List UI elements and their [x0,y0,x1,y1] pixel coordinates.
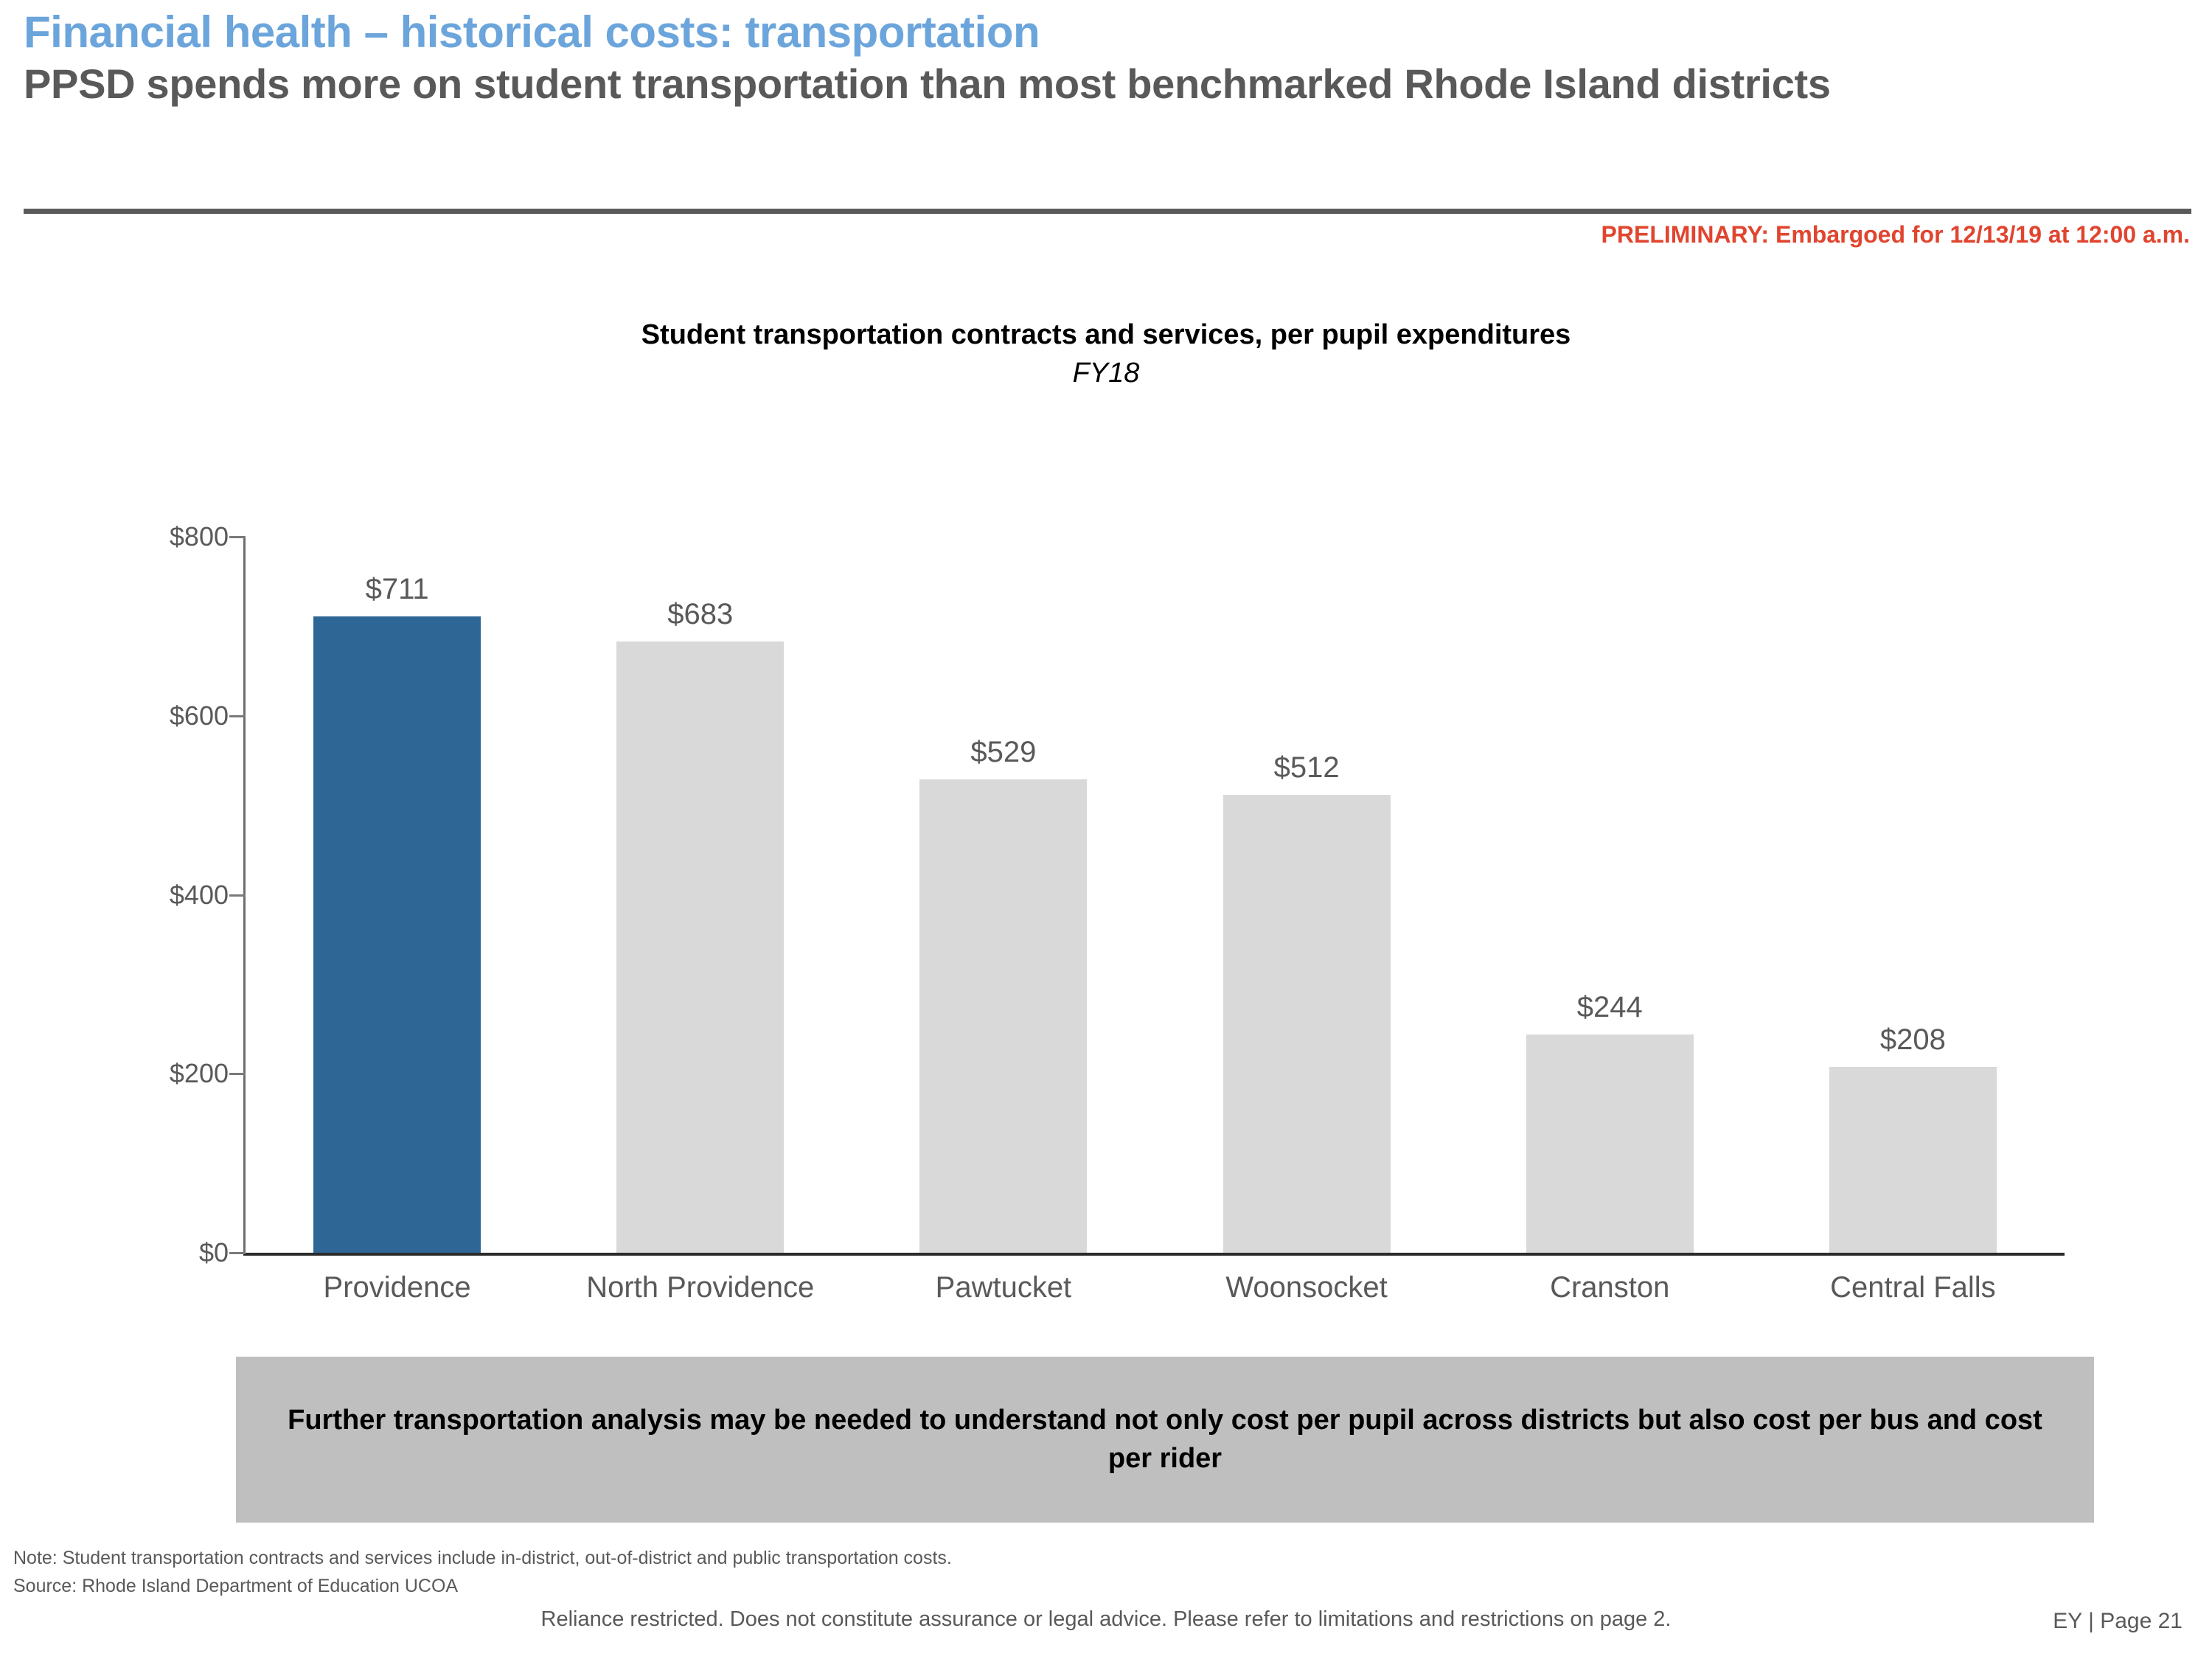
y-tick-label: $0 [111,1237,229,1268]
x-category-label: Woonsocket [1155,1271,1458,1304]
x-axis-line [243,1253,2065,1256]
x-category-label: Cranston [1458,1271,1761,1304]
bar-value-label: $529 [970,736,1036,769]
bar-column[interactable]: $683 [616,537,784,1253]
x-category-label: Providence [246,1271,549,1304]
bar-column[interactable]: $244 [1526,537,1694,1253]
bar[interactable] [313,616,481,1253]
page-marker: EY | Page 21 [2053,1609,2183,1634]
status-badge-embargo: PRELIMINARY: Embargoed for 12/13/19 at 1… [1601,221,2190,248]
footnotes: Note: Student transportation contracts a… [13,1545,952,1600]
y-tick-label: $400 [111,880,229,911]
callout-text: Further transportation analysis may be n… [280,1402,2050,1478]
bar-column[interactable]: $529 [919,537,1087,1253]
bar[interactable] [919,779,1087,1253]
bar-value-label: $512 [1274,751,1340,785]
bar-column[interactable]: $208 [1829,537,1997,1253]
bar-value-label: $711 [366,573,429,606]
page-title: PPSD spends more on student transportati… [24,61,2110,108]
y-tick-mark [229,1252,246,1254]
callout-box: Further transportation analysis may be n… [236,1357,2094,1523]
bar[interactable] [1829,1067,1997,1253]
header-divider [24,209,2191,214]
bar-value-label: $683 [667,598,733,631]
bar[interactable] [1526,1034,1694,1253]
y-tick-mark [229,715,246,717]
x-category-label: Pawtucket [852,1271,1155,1304]
y-tick-mark [229,536,246,538]
footnote-note: Note: Student transportation contracts a… [13,1545,952,1573]
bar[interactable] [616,641,784,1253]
bar-value-label: $208 [1880,1023,1946,1057]
x-category-label: Central Falls [1761,1271,2065,1304]
slide-header: Financial health – historical costs: tra… [24,9,2162,108]
y-tick-label: $800 [111,521,229,552]
slide-eyebrow: Financial health – historical costs: tra… [24,9,2162,57]
y-tick-label: $200 [111,1058,229,1089]
footnote-source: Source: Rhode Island Department of Educa… [13,1573,952,1601]
chart-subtitle: FY18 [0,356,2212,392]
reliance-disclaimer: Reliance restricted. Does not constitute… [0,1607,2212,1632]
bar-value-label: $244 [1577,991,1643,1024]
y-tick-mark [229,894,246,897]
bar-column[interactable]: $512 [1223,537,1391,1253]
x-category-label: North Providence [549,1271,852,1304]
chart-title-block: Student transportation contracts and ser… [0,319,2212,391]
bar-column[interactable]: $711 [313,537,481,1253]
chart-title: Student transportation contracts and ser… [0,319,2212,352]
bar[interactable] [1223,795,1391,1253]
y-tick-mark [229,1073,246,1075]
y-tick-label: $600 [111,700,229,731]
y-axis-line [243,537,246,1255]
